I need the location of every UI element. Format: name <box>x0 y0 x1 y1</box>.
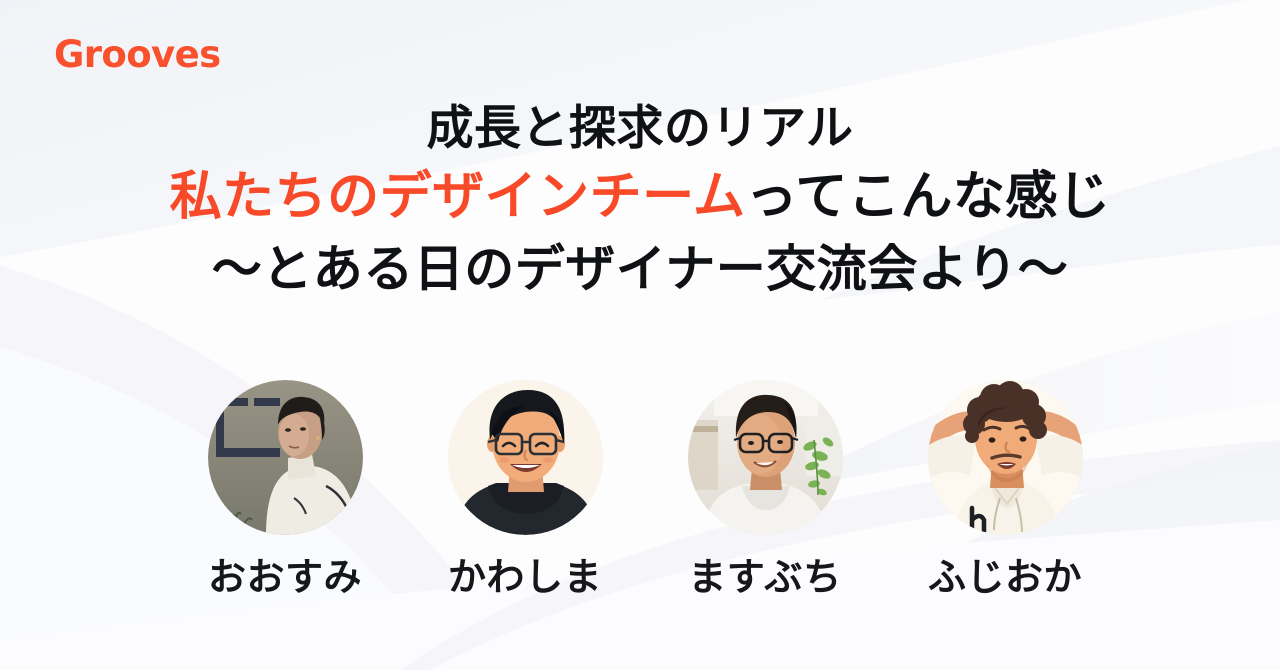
avatar-illustration-fujioka <box>928 380 1083 535</box>
avatar-image <box>928 380 1083 535</box>
grooves-logo[interactable]: Grooves <box>54 36 221 73</box>
headline-block: 成長と探求のリアル 私たちのデザインチームってこんな感じ 〜とある日のデザイナー… <box>0 100 1280 300</box>
member-card: おおすみ <box>205 380 365 596</box>
avatar-image <box>688 380 843 535</box>
member-name: かわしま <box>448 558 602 596</box>
slide-canvas: Grooves 成長と探求のリアル 私たちのデザインチームってこんな感じ 〜とあ… <box>0 0 1280 670</box>
member-list: おおすみ <box>205 380 1085 596</box>
member-name: おおすみ <box>208 558 362 596</box>
member-card: ふじおか <box>925 380 1085 596</box>
avatar-image <box>448 380 603 535</box>
avatar-photo-masubuchi <box>688 380 843 535</box>
member-card: かわしま <box>445 380 605 596</box>
member-name: ますぶち <box>688 558 842 596</box>
member-card: ますぶち <box>685 380 845 596</box>
avatar-illustration-kawashima <box>448 380 603 535</box>
member-name: ふじおか <box>928 558 1082 596</box>
headline-line-3: 〜とある日のデザイナー交流会より〜 <box>0 239 1280 300</box>
headline-accent-text: 私たちのデザインチーム <box>170 167 746 227</box>
avatar-photo-oosumi <box>208 380 363 535</box>
headline-line-1: 成長と探求のリアル <box>0 100 1280 157</box>
headline-line-2-rest: ってこんな感じ <box>746 167 1111 227</box>
avatar-image <box>208 380 363 535</box>
headline-line-2: 私たちのデザインチームってこんな感じ <box>0 166 1280 229</box>
